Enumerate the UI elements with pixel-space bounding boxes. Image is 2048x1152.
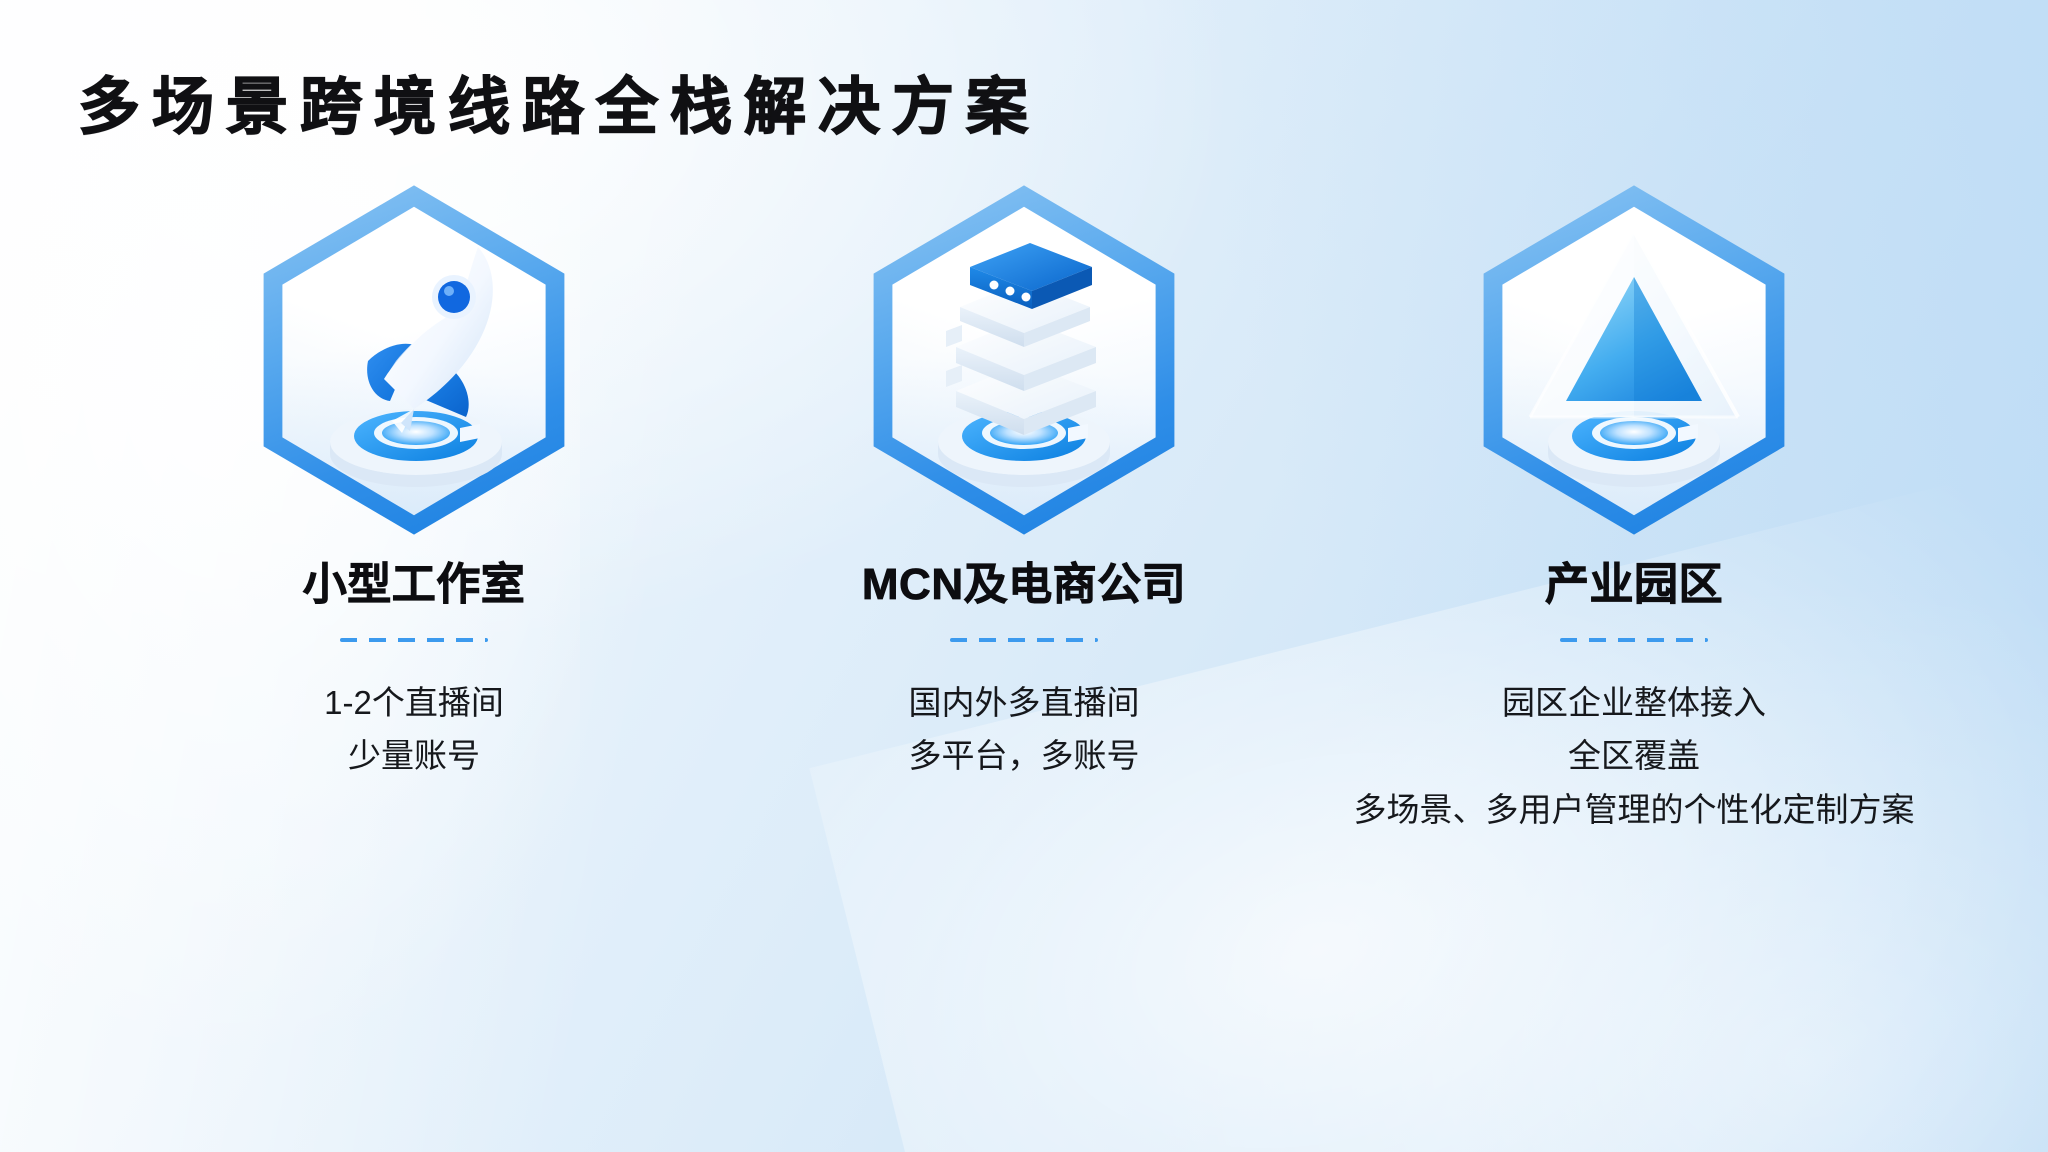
hex-badge-2 — [864, 180, 1184, 540]
card-title: MCN及电商公司 — [862, 548, 1186, 612]
slide-root: 多场景跨境线路全栈解决方案 — [0, 0, 2048, 1152]
desc-line: 园区企业整体接入 — [1354, 676, 1915, 729]
rocket-icon — [264, 195, 564, 525]
page-title: 多场景跨境线路全栈解决方案 — [78, 56, 1040, 146]
server-stack-icon — [874, 195, 1174, 525]
pyramid-icon — [1484, 195, 1784, 525]
divider-dashed — [340, 638, 488, 642]
hex-badge-3 — [1474, 180, 1794, 540]
card-description: 园区企业整体接入 全区覆盖 多场景、多用户管理的个性化定制方案 — [1354, 676, 1915, 836]
card-description: 国内外多直播间 多平台，多账号 — [909, 676, 1140, 783]
card-small-studio[interactable]: 小型工作室 1-2个直播间 少量账号 — [174, 180, 654, 783]
hex-badge-1 — [254, 180, 574, 540]
divider-dashed — [950, 638, 1098, 642]
desc-line: 多平台，多账号 — [909, 729, 1140, 782]
card-title: 小型工作室 — [303, 548, 526, 612]
card-industrial-park[interactable]: 产业园区 园区企业整体接入 全区覆盖 多场景、多用户管理的个性化定制方案 — [1394, 180, 1874, 836]
card-description: 1-2个直播间 少量账号 — [324, 676, 504, 783]
divider-dashed — [1560, 638, 1708, 642]
desc-line: 国内外多直播间 — [909, 676, 1140, 729]
desc-line: 1-2个直播间 — [324, 676, 504, 729]
card-title: 产业园区 — [1545, 548, 1723, 612]
card-mcn-ecommerce[interactable]: MCN及电商公司 国内外多直播间 多平台，多账号 — [784, 180, 1264, 783]
desc-line: 少量账号 — [324, 729, 504, 782]
card-row: 小型工作室 1-2个直播间 少量账号 — [0, 180, 2048, 836]
desc-line: 多场景、多用户管理的个性化定制方案 — [1354, 783, 1915, 836]
desc-line: 全区覆盖 — [1354, 729, 1915, 782]
